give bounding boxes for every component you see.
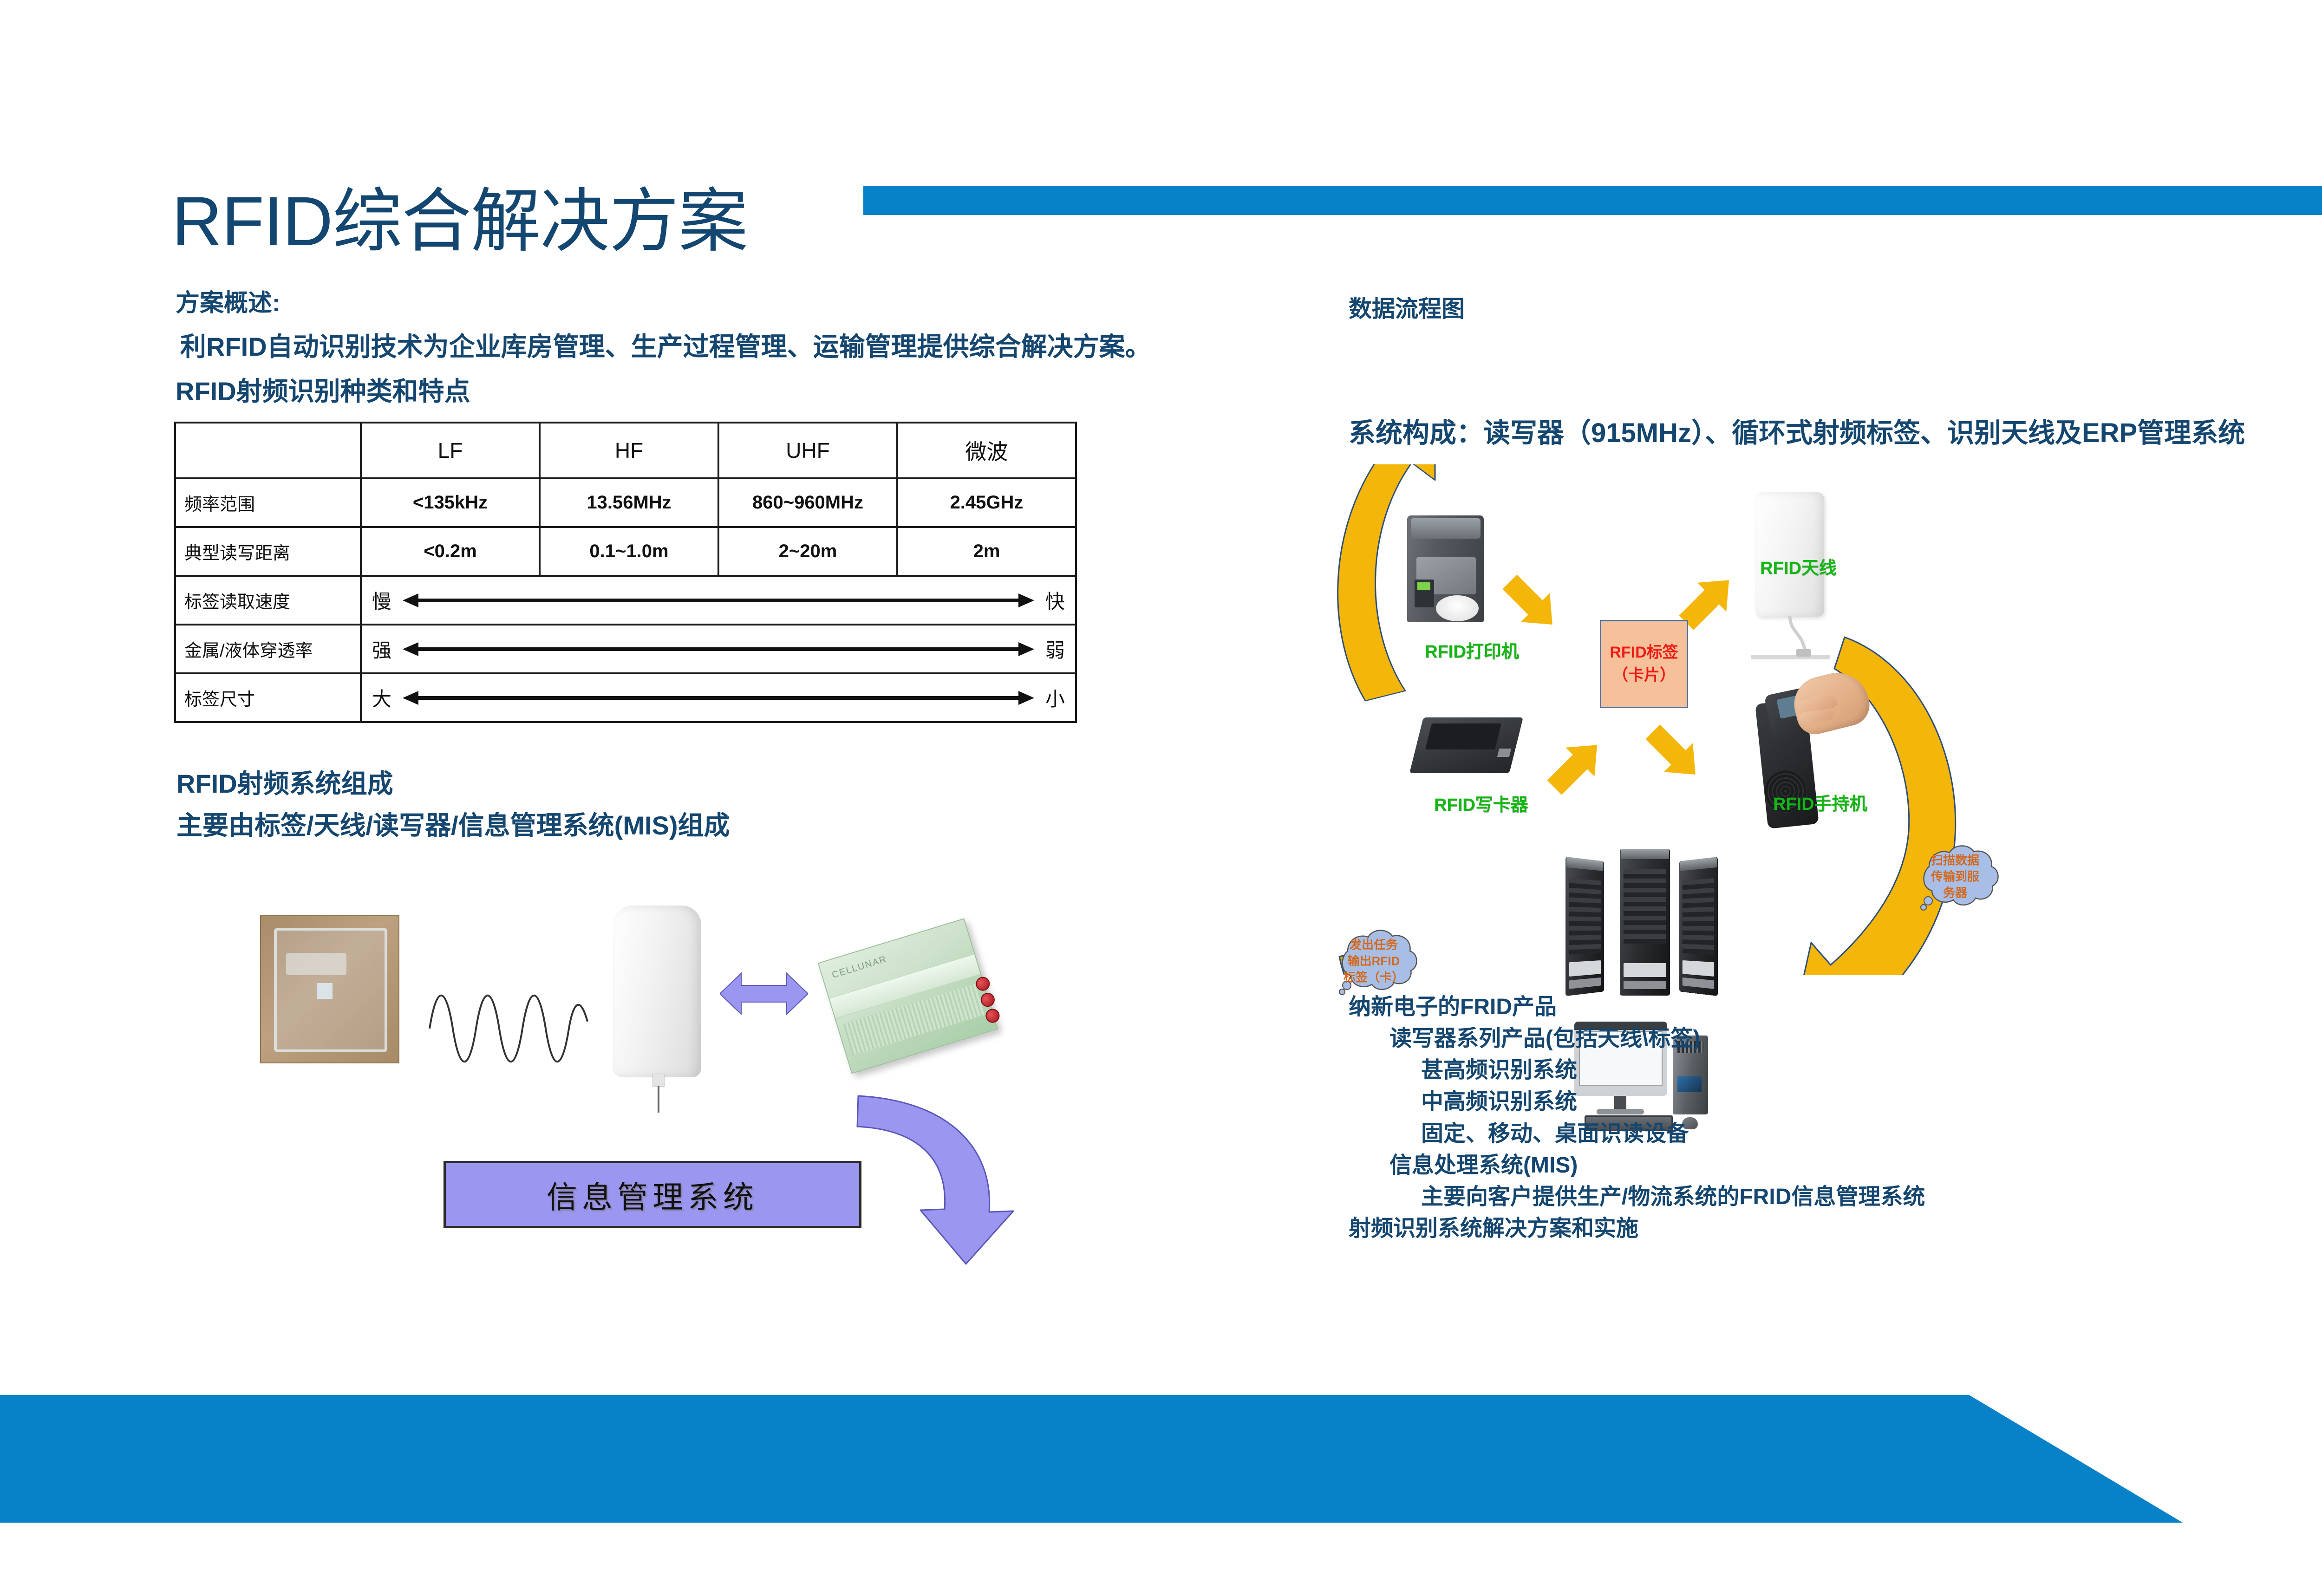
list-item: 中高频识别系统 [1349, 1086, 1925, 1118]
antenna-label: RFID天线 [1760, 554, 1837, 579]
list-item: 固定、移动、桌面识读设备 [1349, 1118, 1925, 1150]
rfid-tag-box-line2: （卡片） [1612, 664, 1676, 687]
rfid-antenna-photo [613, 905, 701, 1077]
server-unit-icon [1679, 857, 1718, 996]
table-row: 标签读取速度 慢 快 [175, 576, 1076, 625]
footer-shape-icon [0, 1395, 2322, 1523]
cell-frequency-uhf: 860~960MHz [718, 478, 897, 527]
list-item: 射频识别系统解决方案和实施 [1349, 1213, 1925, 1244]
cell-frequency-lf: <135kHz [361, 478, 540, 527]
gradient-arrow-icon [403, 642, 1034, 656]
rfid-tag-box-line1: RFID标签 [1610, 641, 1678, 664]
row-label-penetration: 金属/液体穿透率 [175, 625, 361, 673]
list-item: 主要向客户提供生产/物流系统的FRID信息管理系统 [1349, 1181, 1925, 1213]
page-title: RFID综合解决方案 [172, 185, 748, 258]
rfid-tag-photo [260, 915, 399, 1063]
system-name-label: RFID射频系统组成 [176, 763, 393, 801]
rfid-reader-photo: CELLUNAR [818, 918, 998, 1074]
mis-system-box: 信息管理系统 [444, 1161, 861, 1228]
table-row: 标签尺寸 大 小 [175, 673, 1076, 722]
writer-usb-port-icon [1497, 749, 1511, 757]
gradient-arrow-icon [403, 593, 1034, 607]
row-label-frequency: 频率范围 [175, 478, 361, 527]
row-arrow-penetration: 强 弱 [361, 625, 1076, 673]
table-row: 典型读写距离 <0.2m 0.1~1.0m 2~20m 2m [175, 527, 1076, 576]
antenna-jack-icon [1796, 649, 1811, 657]
rfid-spec-table: LF HF UHF 微波 频率范围 <135kHz 13.56MHz 860~9… [174, 422, 1077, 723]
mis-system-label: 信息管理系统 [547, 1173, 758, 1217]
system-composition-label: 主要由标签/天线/读写器/信息管理系统(MIS)组成 [176, 805, 730, 842]
tag-chip-icon [317, 983, 333, 999]
printer-led-icon [1417, 582, 1430, 590]
data-flow-diagram: RFID打印机 RFID写卡器 RFID天线 [1300, 464, 2136, 975]
cloud-left-text: 发出任务 输出RFID 标签（卡） [1323, 937, 1425, 985]
row-label-read-speed: 标签读取速度 [175, 576, 361, 625]
tag-logo-icon [286, 953, 346, 975]
cell-distance-uhf: 2~20m [718, 527, 897, 576]
rfid-tag-box: RFID标签 （卡片） [1600, 620, 1688, 708]
gradient-arrow-icon [403, 691, 1034, 705]
printer-label: RFID打印机 [1425, 637, 1519, 663]
double-arrow-icon [720, 966, 808, 1022]
reader-port-icon [984, 1007, 1001, 1024]
overview-label: 方案概述: [176, 283, 280, 318]
system-make-label: 系统构成：读写器（915MHz）、循环式射频标签、识别天线及ERP管理系统 [1349, 411, 2245, 450]
table-header-uhf: UHF [718, 423, 897, 478]
row-label-tag-size: 标签尺寸 [175, 673, 361, 722]
list-item: 纳新电子的FRID产品 [1349, 991, 1925, 1023]
printer-lid-icon [1411, 518, 1481, 539]
product-list: 纳新电子的FRID产品 读写器系列产品(包括天线\标签) 甚高频识别系统 中高频… [1349, 991, 1925, 1244]
handheld-label: RFID手持机 [1773, 789, 1867, 815]
footer-accent-band [0, 1395, 2322, 1523]
cell-frequency-microwave: 2.45GHz [897, 478, 1076, 527]
cell-distance-lf: <0.2m [361, 527, 540, 576]
cell-distance-hf: 0.1~1.0m [540, 527, 718, 576]
cell-distance-microwave: 2m [897, 527, 1076, 576]
table-header-row: LF HF UHF 微波 [175, 423, 1076, 478]
arrow-right-label-read-speed: 快 [1045, 586, 1065, 614]
header-accent-bar [863, 186, 2322, 215]
cloud-callout-left: 发出任务 输出RFID 标签（卡） [1323, 924, 1425, 998]
rf-wave-icon [427, 982, 594, 1075]
list-item: 甚高频识别系统 [1349, 1055, 1925, 1086]
antenna-cable-icon [658, 1086, 659, 1113]
reader-brand-icon: CELLUNAR [831, 954, 888, 981]
flowchart-label: 数据流程图 [1349, 290, 1465, 324]
cloud-callout-right: 扫描数据 传输到服 务器 [1904, 840, 2006, 914]
slide-canvas: RFID综合解决方案 方案概述: 利RFID自动识别技术为企业库房管理、生产过程… [0, 0, 2322, 1596]
rfid-printer-image [1407, 515, 1498, 629]
table-header-hf: HF [540, 423, 718, 478]
writer-slot-icon [1425, 723, 1501, 749]
row-label-distance: 典型读写距离 [175, 527, 361, 576]
list-item: 信息处理系统(MIS) [1349, 1150, 1925, 1181]
arrow-left-label-tag-size: 大 [372, 684, 391, 712]
table-row: 频率范围 <135kHz 13.56MHz 860~960MHz 2.45GHz [175, 478, 1076, 527]
table-header-microwave: 微波 [897, 423, 1076, 478]
server-unit-icon [1620, 849, 1670, 996]
list-item: 读写器系列产品(包括天线\标签) [1349, 1023, 1925, 1055]
table-corner-cell [175, 423, 361, 478]
server-rack-image [1560, 845, 1728, 1003]
rfid-card-writer-image [1416, 706, 1523, 789]
cloud-right-text: 扫描数据 传输到服 务器 [1904, 852, 2006, 901]
writer-label: RFID写卡器 [1434, 790, 1528, 816]
row-arrow-tag-size: 大 小 [361, 673, 1076, 722]
arrow-right-label-tag-size: 小 [1045, 684, 1065, 712]
types-label: RFID射频识别种类和特点 [176, 371, 470, 408]
arrow-right-label-penetration: 弱 [1045, 635, 1065, 663]
table-header-lf: LF [361, 423, 540, 478]
arrow-left-label-read-speed: 慢 [372, 586, 391, 614]
cell-frequency-hf: 13.56MHz [540, 478, 718, 527]
table-row: 金属/液体穿透率 强 弱 [175, 625, 1076, 673]
row-arrow-read-speed: 慢 快 [361, 576, 1076, 625]
arrow-left-label-penetration: 强 [372, 635, 391, 663]
antenna-base-icon [1751, 655, 1830, 659]
curved-down-arrow-icon [850, 1087, 1036, 1272]
overview-body: 利RFID自动识别技术为企业库房管理、生产过程管理、运输管理提供综合解决方案。 [180, 326, 1151, 364]
printer-media-roll-icon [1436, 595, 1479, 621]
antenna-connector-icon [652, 1074, 665, 1087]
server-unit-icon [1565, 857, 1604, 996]
